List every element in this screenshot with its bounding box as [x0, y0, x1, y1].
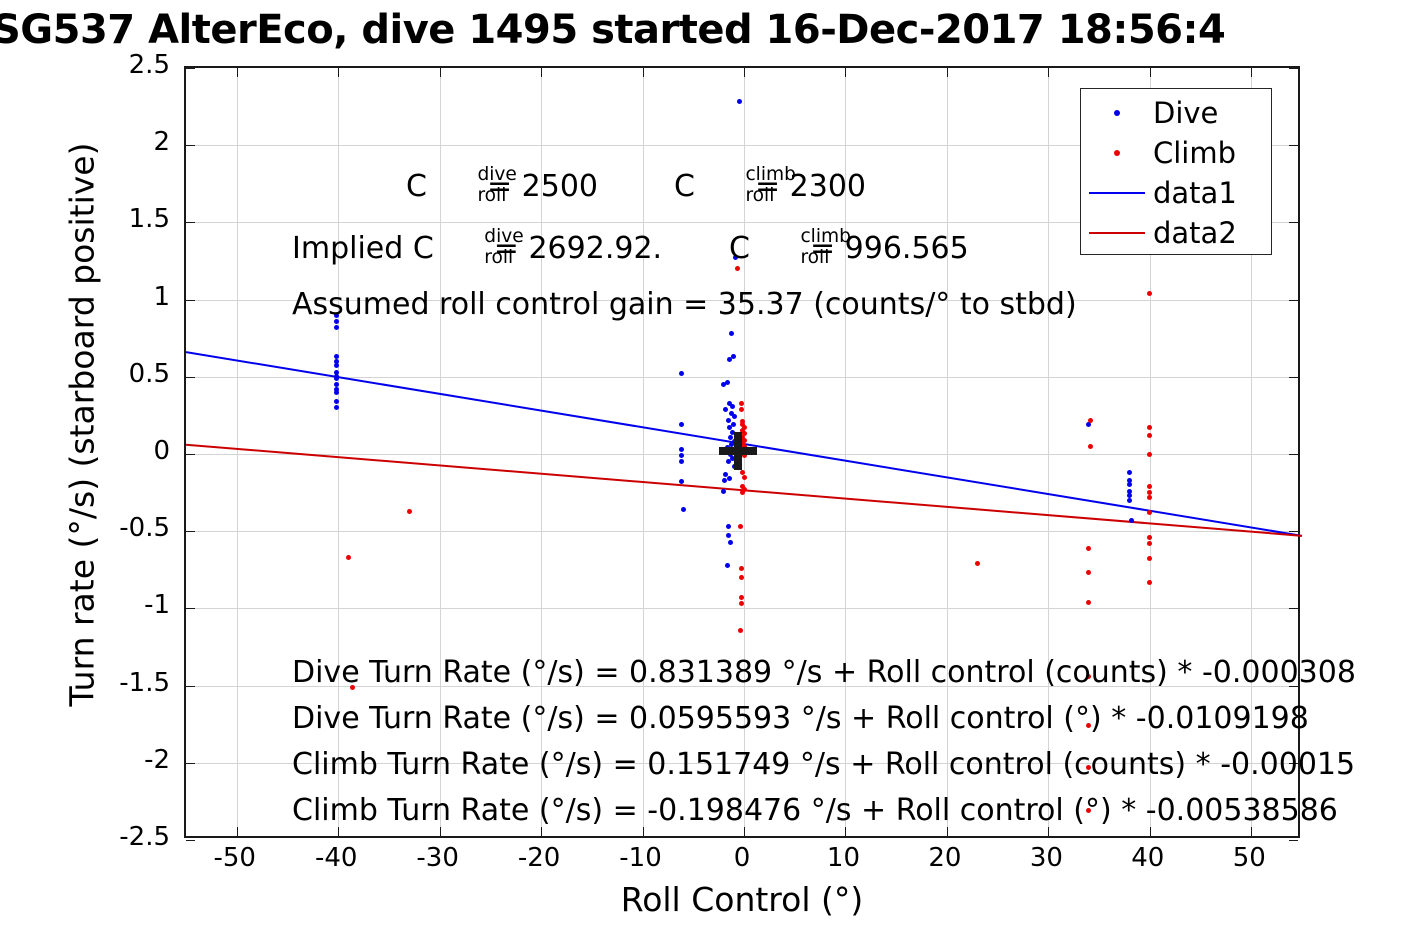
legend-swatch [1089, 192, 1145, 194]
data-point-climb [1086, 600, 1091, 605]
data-point-dive [730, 404, 735, 409]
data-point-climb [1086, 546, 1091, 551]
x-tick-label: -20 [499, 843, 579, 873]
data-point-dive [334, 399, 339, 404]
legend-line-swatch [1081, 192, 1153, 194]
y-tick-label: -1 [80, 590, 170, 620]
data-point-dive [727, 357, 732, 362]
legend-label: data2 [1153, 219, 1237, 248]
y-tick-label: -2.5 [80, 822, 170, 852]
data-point-climb [1088, 418, 1093, 423]
data-point-dive [334, 319, 339, 324]
legend-marker-swatch [1081, 150, 1153, 156]
data-point-dive [722, 478, 727, 483]
legend-label: Dive [1153, 99, 1218, 128]
data-point-climb [742, 475, 747, 480]
legend-label: data1 [1153, 179, 1237, 208]
x-tick-label: -30 [398, 843, 478, 873]
x-axis-label: Roll Control (°) [184, 880, 1300, 919]
data-point-climb [739, 401, 744, 406]
legend: DiveClimbdata1data2 [1080, 88, 1272, 255]
legend-swatch [1114, 110, 1120, 116]
x-tick-label: 50 [1209, 843, 1289, 873]
data-point-climb [740, 490, 745, 495]
legend-item-data1[interactable]: data1 [1081, 173, 1271, 213]
data-point-dive [721, 489, 726, 494]
x-tick-label: -40 [296, 843, 376, 873]
data-point-climb [1147, 510, 1152, 515]
data-point-climb [739, 407, 744, 412]
x-tick-label: -50 [195, 843, 275, 873]
data-point-climb [1088, 444, 1093, 449]
data-point-dive [729, 331, 734, 336]
data-point-dive [679, 447, 684, 452]
data-point-climb [1147, 452, 1152, 457]
data-point-climb [739, 595, 744, 600]
y-tick-label: 2.5 [80, 50, 170, 80]
x-tick-label: 30 [1006, 843, 1086, 873]
y-tick-label: 1.5 [80, 204, 170, 234]
y-tick-label: 1 [80, 282, 170, 312]
data-point-dive [1086, 422, 1091, 427]
data-point-dive [726, 533, 731, 538]
page-title: SG537 AlterEco, dive 1495 started 16-Dec… [0, 2, 1417, 58]
data-point-dive [737, 99, 742, 104]
y-tick-label: 0.5 [80, 359, 170, 389]
data-point-dive [731, 422, 736, 427]
data-point-dive [679, 479, 684, 484]
legend-swatch [1114, 150, 1120, 156]
data-point-dive [334, 405, 339, 410]
legend-swatch [1089, 232, 1145, 234]
data-point-climb [1147, 484, 1152, 489]
tick-mark [186, 840, 195, 841]
data-point-climb [1147, 556, 1152, 561]
data-point-climb [1086, 808, 1091, 813]
data-point-climb [739, 566, 744, 571]
legend-item-data2[interactable]: data2 [1081, 213, 1271, 253]
y-tick-label: -2 [80, 745, 170, 775]
legend-item-climb[interactable]: Climb [1081, 133, 1271, 173]
data-point-dive [1127, 498, 1132, 503]
data-point-dive [334, 313, 339, 318]
data-point-dive [679, 453, 684, 458]
y-tick-label: 0 [80, 436, 170, 466]
data-point-climb [407, 509, 412, 514]
data-point-climb [735, 266, 740, 271]
legend-item-dive[interactable]: Dive [1081, 93, 1271, 133]
data-point-climb [1147, 495, 1152, 500]
data-point-dive [1129, 518, 1134, 523]
y-tick-label: -1.5 [80, 668, 170, 698]
data-point-dive [681, 507, 686, 512]
data-point-climb [1086, 765, 1091, 770]
data-point-climb [1147, 580, 1152, 585]
y-tick-label: 2 [80, 127, 170, 157]
legend-line-swatch [1081, 232, 1153, 234]
data-point-dive [1127, 470, 1132, 475]
data-point-climb [739, 575, 744, 580]
data-point-dive [732, 414, 737, 419]
data-point-dive [726, 459, 731, 464]
data-point-dive [1127, 482, 1132, 487]
data-point-climb [346, 555, 351, 560]
data-point-dive [723, 407, 728, 412]
data-point-dive [726, 524, 731, 529]
data-point-dive [733, 255, 738, 260]
data-point-climb [1086, 674, 1091, 679]
data-point-dive [728, 540, 733, 545]
y-tick-label: -0.5 [80, 513, 170, 543]
x-tick-label: -10 [601, 843, 681, 873]
data-point-climb [1147, 291, 1152, 296]
data-point-dive [334, 363, 339, 368]
data-point-climb [1147, 433, 1152, 438]
data-point-climb [1086, 723, 1091, 728]
data-point-climb [1147, 541, 1152, 546]
data-point-dive [726, 418, 731, 423]
data-point-climb [1147, 425, 1152, 430]
x-tick-label: 10 [803, 843, 883, 873]
data-point-climb [975, 561, 980, 566]
data-point-dive [334, 390, 339, 395]
x-tick-label: 20 [905, 843, 985, 873]
tick-mark [1289, 840, 1298, 841]
data-point-dive [725, 563, 730, 568]
data-point-dive [727, 476, 732, 481]
data-point-climb [1147, 535, 1152, 540]
data-point-climb [738, 524, 743, 529]
data-point-dive [334, 325, 339, 330]
data-point-dive [679, 422, 684, 427]
data-point-climb [350, 685, 355, 690]
data-point-dive [721, 382, 726, 387]
data-point-dive [334, 376, 339, 381]
data-point-climb [1086, 570, 1091, 575]
x-tick-label: 0 [702, 843, 782, 873]
x-tick-label: 40 [1108, 843, 1188, 873]
data-point-climb [739, 601, 744, 606]
data-point-dive [731, 354, 736, 359]
data-point-dive [679, 371, 684, 376]
data-point-dive [725, 380, 730, 385]
legend-marker-swatch [1081, 110, 1153, 116]
legend-label: Climb [1153, 139, 1236, 168]
data-point-dive [679, 459, 684, 464]
data-point-climb [738, 628, 743, 633]
